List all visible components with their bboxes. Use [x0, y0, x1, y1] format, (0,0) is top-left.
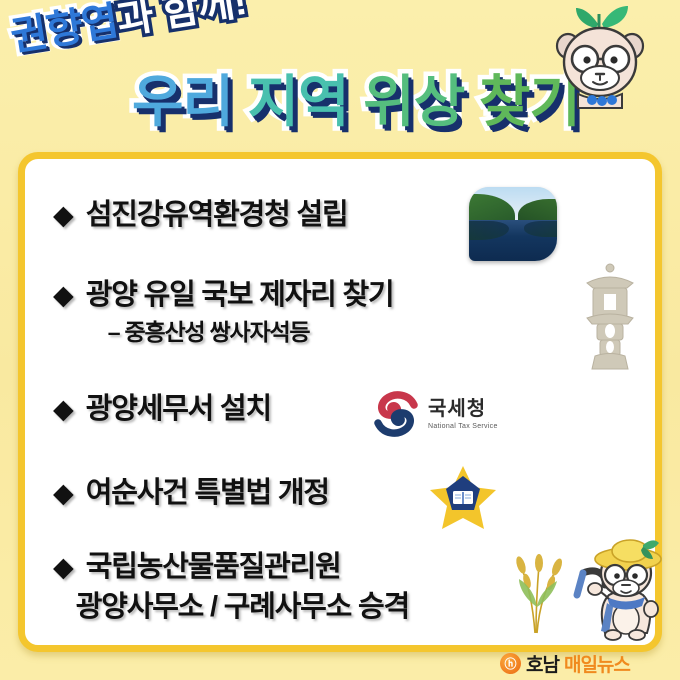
- item-title: 섬진강유역환경청 설립: [86, 195, 348, 235]
- item-subtitle: 광양사무소 / 구례사무소 승격: [76, 587, 409, 627]
- poster-canvas: 권향엽과 함께! 우리 지역 위상 찾기: [0, 0, 680, 680]
- farmer-mascot-rice-icon: [507, 537, 667, 645]
- taegeuk-icon: [373, 391, 419, 437]
- publisher-name-part-2: 매일뉴스: [564, 650, 630, 677]
- poster-header: 권향엽과 함께! 우리 지역 위상 찾기: [0, 0, 680, 152]
- stone-lantern-icon: [573, 261, 647, 373]
- kicker-candidate-name: 권향엽: [8, 0, 121, 59]
- item-title: 여순사건 특별법 개정: [86, 473, 329, 513]
- title-part-1: 우리: [132, 70, 233, 133]
- list-item: ◆ 여순사건 특별법 개정: [25, 455, 655, 539]
- kicker-suffix: 과 함께!: [114, 0, 249, 43]
- list-item: ◆ 광양 유일 국보 제자리 찾기 – 중흥산성 쌍사자석등: [25, 265, 655, 371]
- item-title: 광양세무서 설치: [86, 389, 271, 429]
- item-title: 광양 유일 국보 제자리 찾기: [86, 275, 394, 315]
- river-landscape-photo: [469, 187, 557, 261]
- bullet-diamond-icon: ◆: [53, 195, 74, 235]
- list-item: ◆ 섬진강유역환경청 설립: [25, 173, 655, 265]
- items-card: ◆ 섬진강유역환경청 설립 ◆ 광양 유일 국보 제자리 찾기: [18, 152, 662, 652]
- bullet-diamond-icon: ◆: [53, 547, 74, 587]
- national-assembly-emblem-icon: [427, 463, 499, 533]
- bullet-diamond-icon: ◆: [53, 389, 74, 429]
- page-title: 우리 지역 위상 찾기: [132, 74, 580, 130]
- title-part-3: 위상: [363, 70, 464, 133]
- publisher-mark-icon: ⓗ: [500, 653, 521, 674]
- character-mascot-icon: [540, 2, 660, 112]
- item-title: 국립농산물품질관리원: [86, 547, 409, 587]
- national-tax-service-logo: 국세청 National Tax Service: [373, 391, 498, 437]
- kicker-line: 권향엽과 함께!: [8, 0, 249, 58]
- list-item: ◆ 국립농산물품질관리원 광양사무소 / 구례사무소 승격: [25, 539, 655, 647]
- publisher-name-part-1: 호남: [526, 650, 559, 677]
- title-part-2: 지역: [248, 70, 349, 133]
- tax-logo-korean: 국세청: [428, 399, 498, 419]
- list-item: ◆ 광양세무서 설치 국세청 National Tax Service: [25, 371, 655, 455]
- bullet-diamond-icon: ◆: [53, 275, 74, 315]
- bullet-diamond-icon: ◆: [53, 473, 74, 513]
- item-subtitle: – 중흥산성 쌍사자석등: [108, 315, 394, 349]
- publisher-logo: ⓗ 호남 매일뉴스: [500, 650, 630, 677]
- tax-logo-english: National Tax Service: [428, 423, 498, 430]
